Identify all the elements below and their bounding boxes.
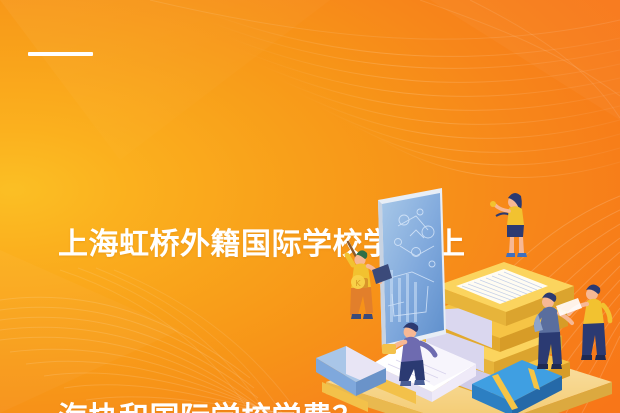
- accent-bar: [28, 52, 93, 56]
- page-title-line-1: 上海虹桥外籍国际学校学费 上: [58, 216, 538, 274]
- person-pair-left: [534, 292, 572, 369]
- banner: 上海虹桥外籍国际学校学费 上 海协和国际学校学费？: [0, 0, 620, 413]
- page-title-line-2: 海协和国际学校学费？: [58, 390, 538, 413]
- page-title: 上海虹桥外籍国际学校学费 上 海协和国际学校学费？: [58, 100, 538, 413]
- person-pair-right: [556, 284, 610, 360]
